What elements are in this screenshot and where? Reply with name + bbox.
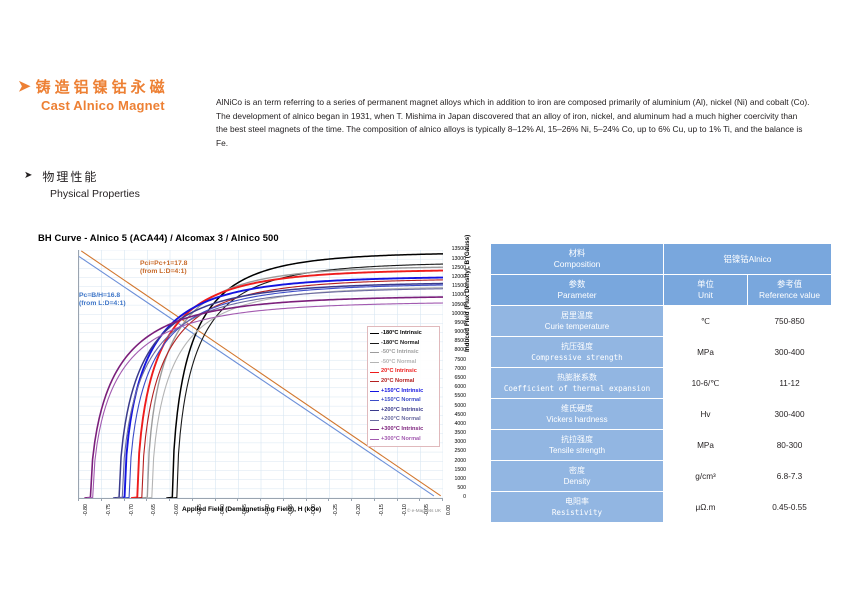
header-cell-material: 材料 Composition <box>491 244 664 275</box>
chart-legend: -180°C Intrinsic-180°C Normal-50°C Intri… <box>367 326 440 447</box>
header-unit-en: Unit <box>664 290 747 301</box>
table-row: 热膨胀系数Coefficient of thermal expansion10-… <box>491 368 832 399</box>
section-heading-cn: 物理性能 <box>42 170 98 185</box>
legend-item: 20°C Intrinsic <box>370 367 437 377</box>
y-tick-label: 6500 <box>442 376 466 381</box>
legend-label: 20°C Normal <box>381 377 414 387</box>
y-tick-label: 2000 <box>442 459 466 464</box>
x-tick-label: -0.25 <box>334 504 339 516</box>
x-tick-mark <box>146 498 147 501</box>
chart-plot-wrap: Pci=Pc+1=17.8 (from L:D=4:1) Pc=B/H=16.8… <box>78 250 442 498</box>
table-cell-value: 300-400 <box>748 399 832 430</box>
y-tick-label: 4500 <box>442 413 466 418</box>
header-cell-reference: 参考值 Reference value <box>748 275 832 306</box>
y-tick-label: 7500 <box>442 358 466 363</box>
parameter-cn: 抗压强度 <box>491 341 663 352</box>
table-cell-parameter: 维氏硬度Vickers hardness <box>491 399 664 430</box>
parameter-en: Resistivity <box>491 507 663 518</box>
legend-label: +300°C Intrinsic <box>381 425 423 435</box>
parameter-en: Compressive strength <box>491 352 663 363</box>
y-tick-label: 10000 <box>442 312 466 317</box>
legend-swatch-icon <box>370 429 379 430</box>
y-tick-label: 4000 <box>442 422 466 427</box>
legend-swatch-icon <box>370 362 379 363</box>
header-alnico-label: 铝镍钴Alnico <box>664 254 831 265</box>
table-row-material: 材料 Composition 铝镍钴Alnico <box>491 244 832 275</box>
y-tick-label: 13500 <box>442 247 466 252</box>
table-cell-unit: g/cm³ <box>664 461 748 492</box>
header-unit-cn: 单位 <box>664 279 747 290</box>
chart-x-axis-ticks: -0.80-0.75-0.70-0.65-0.60-0.55-0.50-0.45… <box>78 498 444 528</box>
intro-paragraph: AlNiCo is an term referring to a series … <box>216 96 811 150</box>
header-material-en: Composition <box>491 259 663 270</box>
legend-swatch-icon <box>370 352 379 353</box>
y-tick-label: 12500 <box>442 266 466 271</box>
table-cell-parameter: 抗压强度Compressive strength <box>491 337 664 368</box>
x-tick-mark <box>101 498 102 501</box>
header-material-cn: 材料 <box>491 248 663 259</box>
legend-label: -180°C Intrinsic <box>381 329 422 339</box>
y-tick-label: 12000 <box>442 275 466 280</box>
x-tick-mark <box>397 498 398 501</box>
chart-x-axis-title: Applied Field (Demagnetising Field), H (… <box>182 506 321 513</box>
annotation-pci-line2: (from L:D=4:1) <box>140 268 187 276</box>
table-row: 抗拉强度Tensile strengthMPa80-300 <box>491 430 832 461</box>
y-tick-label: 9000 <box>442 330 466 335</box>
table-cell-value: 0.45-0.55 <box>748 492 832 523</box>
y-tick-label: 11000 <box>442 293 466 298</box>
annotation-pci: Pci=Pc+1=17.8 (from L:D=4:1) <box>140 260 187 277</box>
table-cell-parameter: 热膨胀系数Coefficient of thermal expansion <box>491 368 664 399</box>
legend-swatch-icon <box>370 372 379 373</box>
legend-swatch-icon <box>370 439 379 440</box>
parameter-en: Curie temperature <box>491 321 663 332</box>
legend-swatch-icon <box>370 410 379 411</box>
table-cell-value: 6.8-7.3 <box>748 461 832 492</box>
legend-swatch-icon <box>370 391 379 392</box>
parameter-cn: 维氏硬度 <box>491 403 663 414</box>
y-tick-label: 7000 <box>442 367 466 372</box>
legend-item: +200°C Normal <box>370 415 437 425</box>
parameter-cn: 抗拉强度 <box>491 434 663 445</box>
y-tick-label: 13000 <box>442 257 466 262</box>
table-row: 抗压强度Compressive strengthMPa300-400 <box>491 337 832 368</box>
x-tick-label: -0.75 <box>107 504 112 516</box>
y-tick-label: 5000 <box>442 404 466 409</box>
x-tick-label: -0.60 <box>175 504 180 516</box>
x-tick-mark <box>215 498 216 501</box>
y-tick-label: 3500 <box>442 431 466 436</box>
physical-properties-heading: ➤物理性能 Physical Properties <box>24 168 264 200</box>
y-tick-label: 0 <box>442 495 466 500</box>
x-tick-mark <box>419 498 420 501</box>
table-row: 密度Densityg/cm³6.8-7.3 <box>491 461 832 492</box>
table-cell-parameter: 密度Density <box>491 461 664 492</box>
header-parameter-cn: 参数 <box>491 279 663 290</box>
table-cell-parameter: 抗拉强度Tensile strength <box>491 430 664 461</box>
table-cell-value: 11-12 <box>748 368 832 399</box>
x-tick-mark <box>283 498 284 501</box>
x-tick-mark <box>124 498 125 501</box>
chart-y-axis-ticks: 1350013000125001200011500110001050010000… <box>442 250 466 500</box>
y-tick-label: 6000 <box>442 385 466 390</box>
legend-swatch-icon <box>370 343 379 344</box>
header-alnico-en: Alnico <box>749 254 772 264</box>
legend-item: +150°C Intrinsic <box>370 387 437 397</box>
x-tick-mark <box>237 498 238 501</box>
table-cell-parameter: 居里温度Curie temperature <box>491 306 664 337</box>
x-tick-label: -0.15 <box>380 504 385 516</box>
legend-item: -180°C Intrinsic <box>370 329 437 339</box>
legend-item: +150°C Normal <box>370 396 437 406</box>
bh-curve-chart: BH Curve - Alnico 5 (ACA44) / Alcomax 3 … <box>34 232 449 524</box>
y-tick-label: 11500 <box>442 284 466 289</box>
table-row: 居里温度Curie temperature℃750-850 <box>491 306 832 337</box>
header-cell-parameter: 参数 Parameter <box>491 275 664 306</box>
parameter-cn: 密度 <box>491 465 663 476</box>
legend-item: +300°C Intrinsic <box>370 425 437 435</box>
table-cell-unit: ℃ <box>664 306 748 337</box>
x-tick-mark <box>192 498 193 501</box>
section-heading-en: Physical Properties <box>50 188 264 200</box>
table-cell-value: 80-300 <box>748 430 832 461</box>
parameter-en: Density <box>491 476 663 487</box>
parameter-en: Coefficient of thermal expansion <box>491 383 663 394</box>
x-tick-mark <box>374 498 375 501</box>
title-arrow-icon: ➤ <box>18 78 31 96</box>
table-row: 维氏硬度Vickers hardnessHv300-400 <box>491 399 832 430</box>
header-parameter-en: Parameter <box>491 290 663 301</box>
header-cell-unit: 单位 Unit <box>664 275 748 306</box>
section-arrow-icon: ➤ <box>24 168 32 183</box>
y-tick-label: 1000 <box>442 477 466 482</box>
header-reference-cn: 参考值 <box>748 279 831 290</box>
x-tick-mark <box>78 498 79 501</box>
product-title-block: ➤铸造铝镍钴永磁 Cast Alnico Magnet <box>18 78 218 113</box>
table-cell-unit: Hv <box>664 399 748 430</box>
x-tick-label: 0.00 <box>447 505 452 515</box>
chart-copyright: © e-Magnets UK <box>407 508 441 513</box>
legend-item: -50°C Intrinsic <box>370 348 437 358</box>
legend-label: +200°C Intrinsic <box>381 406 423 416</box>
legend-label: +300°C Normal <box>381 435 421 445</box>
parameter-en: Vickers hardness <box>491 414 663 425</box>
header-cell-alnico: 铝镍钴Alnico <box>664 244 832 275</box>
legend-label: +150°C Normal <box>381 396 421 406</box>
table-cell-unit: MPa <box>664 430 748 461</box>
product-title-en: Cast Alnico Magnet <box>41 98 218 113</box>
legend-swatch-icon <box>370 333 379 334</box>
legend-swatch-icon <box>370 381 379 382</box>
x-tick-mark <box>169 498 170 501</box>
legend-item: -180°C Normal <box>370 339 437 349</box>
table-row: 电阳率ResistivityμΩ.m0.45-0.55 <box>491 492 832 523</box>
x-tick-mark <box>351 498 352 501</box>
parameter-cn: 居里温度 <box>491 310 663 321</box>
annotation-pc-line1: Pc=B/H=16.8 <box>79 292 126 300</box>
legend-label: +200°C Normal <box>381 415 421 425</box>
legend-item: +200°C Intrinsic <box>370 406 437 416</box>
legend-swatch-icon <box>370 400 379 401</box>
legend-label: +150°C Intrinsic <box>381 387 423 397</box>
table-cell-value: 300-400 <box>748 337 832 368</box>
y-tick-label: 3000 <box>442 440 466 445</box>
legend-label: -50°C Normal <box>381 358 416 368</box>
table-cell-parameter: 电阳率Resistivity <box>491 492 664 523</box>
page-root: ➤铸造铝镍钴永磁 Cast Alnico Magnet AlNiCo is an… <box>0 0 859 608</box>
physical-properties-table: 材料 Composition 铝镍钴Alnico 参数 Parameter 单位… <box>490 243 832 523</box>
x-tick-mark <box>260 498 261 501</box>
table-cell-value: 750-850 <box>748 306 832 337</box>
y-tick-label: 1500 <box>442 468 466 473</box>
parameter-cn: 热膨胀系数 <box>491 372 663 383</box>
chart-y-axis-title: Induced Field (Flux Density), B (Gauss) <box>464 235 471 352</box>
legend-item: 20°C Normal <box>370 377 437 387</box>
legend-label: 20°C Intrinsic <box>381 367 417 377</box>
annotation-pc-line2: (from L:D=4:1) <box>79 300 126 308</box>
chart-title: BH Curve - Alnico 5 (ACA44) / Alcomax 3 … <box>38 232 279 243</box>
annotation-pc: Pc=B/H=16.8 (from L:D=4:1) <box>79 292 126 309</box>
parameter-cn: 电阳率 <box>491 496 663 507</box>
x-tick-label: -0.65 <box>152 504 157 516</box>
legend-swatch-icon <box>370 420 379 421</box>
table-cell-unit: MPa <box>664 337 748 368</box>
legend-label: -180°C Normal <box>381 339 419 349</box>
y-tick-label: 5500 <box>442 394 466 399</box>
y-tick-label: 8500 <box>442 339 466 344</box>
annotation-pci-line1: Pci=Pc+1=17.8 <box>140 260 187 268</box>
x-tick-label: -0.70 <box>129 504 134 516</box>
y-tick-label: 8000 <box>442 348 466 353</box>
product-title-cn: 铸造铝镍钴永磁 <box>36 78 169 96</box>
table-cell-unit: 10-6/℃ <box>664 368 748 399</box>
legend-item: -50°C Normal <box>370 358 437 368</box>
table-body: 材料 Composition 铝镍钴Alnico 参数 Parameter 单位… <box>491 244 832 523</box>
x-tick-mark <box>442 498 443 501</box>
x-tick-mark <box>328 498 329 501</box>
parameter-en: Tensile strength <box>491 445 663 456</box>
y-tick-label: 10500 <box>442 303 466 308</box>
legend-item: +300°C Normal <box>370 435 437 445</box>
header-reference-en: Reference value <box>748 290 831 301</box>
y-tick-label: 2500 <box>442 449 466 454</box>
x-tick-mark <box>306 498 307 501</box>
y-tick-label: 500 <box>442 486 466 491</box>
x-tick-label: -0.20 <box>357 504 362 516</box>
table-cell-unit: μΩ.m <box>664 492 748 523</box>
header-alnico-cn: 铝镍钴 <box>724 254 749 264</box>
x-tick-label: -0.80 <box>84 504 89 516</box>
legend-label: -50°C Intrinsic <box>381 348 419 358</box>
y-tick-label: 9500 <box>442 321 466 326</box>
table-row-parameter-header: 参数 Parameter 单位 Unit 参考值 Reference value <box>491 275 832 306</box>
